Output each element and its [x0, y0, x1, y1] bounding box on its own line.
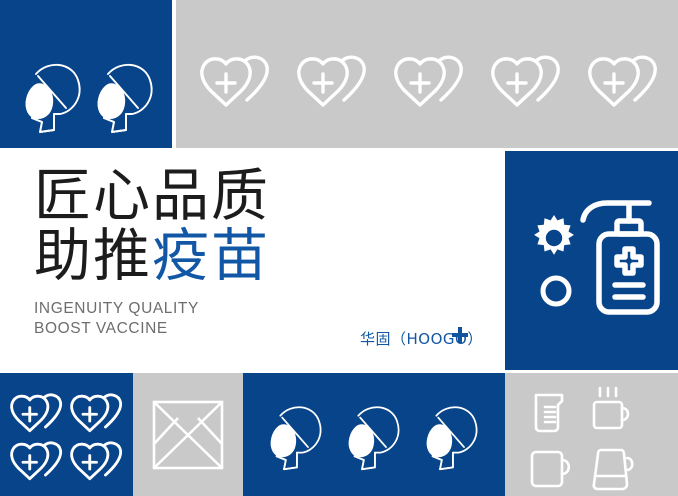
headline-white-tile: 匠心品质 助推疫苗 INGENUITY QUALITY BOOST VACCIN…	[0, 151, 502, 370]
kettle-icon	[587, 446, 639, 494]
broken-image-placeholder-tile	[133, 373, 243, 496]
measuring-beaker-icon	[528, 391, 572, 435]
germ-dot-icon	[539, 274, 573, 308]
virus-icon	[529, 213, 579, 263]
brand-label: 华固（HOOGO）	[360, 328, 483, 349]
headline-line-2-dark: 助推	[34, 223, 152, 289]
double-heart-plus-icon	[197, 55, 277, 113]
masked-head-icon	[260, 395, 332, 477]
broken-image-icon	[152, 400, 224, 470]
masked-head-icon	[338, 395, 410, 477]
headline-line-1: 匠心品质	[34, 166, 270, 226]
double-heart-plus-icon	[68, 393, 128, 437]
subtitle-block: INGENUITY QUALITY BOOST VACCINE	[34, 299, 199, 339]
masked-head-icon	[86, 52, 164, 140]
masked-faces-blue-tile	[0, 0, 172, 148]
headline-line-2: 助推疫苗	[34, 226, 270, 286]
drinkware-gray-tile	[505, 373, 678, 496]
sanitizer-blue-tile	[505, 151, 678, 370]
masked-head-icon	[14, 52, 92, 140]
double-heart-plus-icon	[68, 441, 128, 485]
poster-canvas: 匠心品质 助推疫苗 INGENUITY QUALITY BOOST VACCIN…	[0, 0, 678, 496]
double-heart-plus-icon	[8, 393, 68, 437]
plain-mug-icon	[528, 448, 576, 492]
masked-head-icon	[416, 395, 488, 477]
subtitle-line-1: INGENUITY QUALITY	[34, 299, 199, 319]
double-heart-plus-icon	[294, 55, 374, 113]
steaming-mug-icon	[587, 386, 637, 436]
double-heart-plus-icon	[391, 55, 471, 113]
headline-block: 匠心品质 助推疫苗	[34, 166, 270, 286]
double-heart-plus-icon	[585, 55, 665, 113]
double-heart-blue-tile	[0, 373, 133, 496]
double-heart-gray-strip	[176, 0, 678, 148]
sanitizer-bottle-icon	[577, 197, 661, 327]
double-heart-plus-icon	[8, 441, 68, 485]
double-heart-plus-icon	[488, 55, 568, 113]
headline-line-2-blue: 疫苗	[152, 223, 270, 289]
masked-faces-blue-tile	[243, 373, 505, 496]
subtitle-line-2: BOOST VACCINE	[34, 319, 199, 339]
